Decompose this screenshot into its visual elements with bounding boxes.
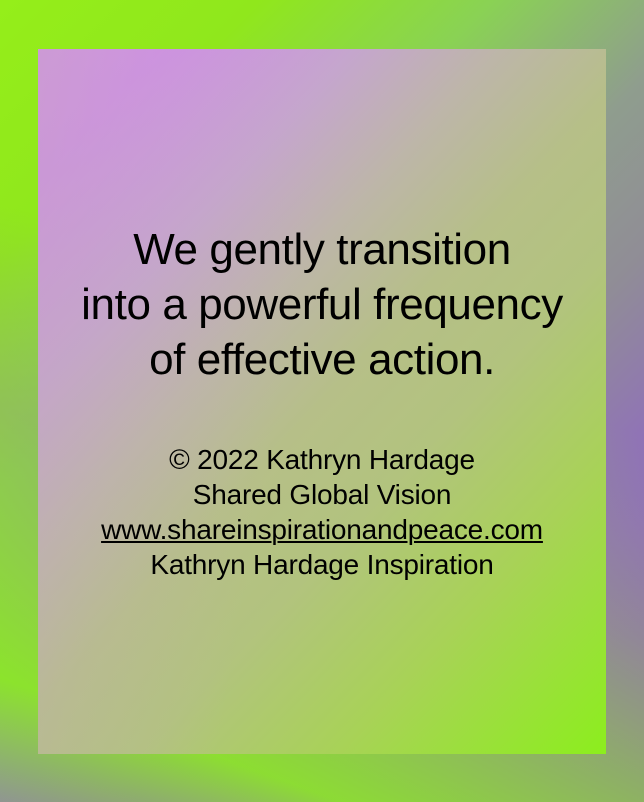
panel-content: We gently transition into a powerful fre… — [38, 222, 606, 582]
quote-text: We gently transition into a powerful fre… — [38, 222, 606, 387]
attribution-block: © 2022 Kathryn Hardage Shared Global Vis… — [38, 442, 606, 582]
organization-line: Shared Global Vision — [38, 477, 606, 512]
quote-line-2: into a powerful frequency — [44, 277, 600, 332]
quote-line-3: of effective action. — [44, 332, 600, 387]
gradient-panel: We gently transition into a powerful fre… — [38, 49, 606, 754]
quote-card: We gently transition into a powerful fre… — [0, 0, 644, 802]
copyright-line: © 2022 Kathryn Hardage — [38, 442, 606, 477]
quote-line-1: We gently transition — [44, 222, 600, 277]
byline: Kathryn Hardage Inspiration — [38, 547, 606, 582]
website-link[interactable]: www.shareinspirationandpeace.com — [38, 512, 606, 547]
